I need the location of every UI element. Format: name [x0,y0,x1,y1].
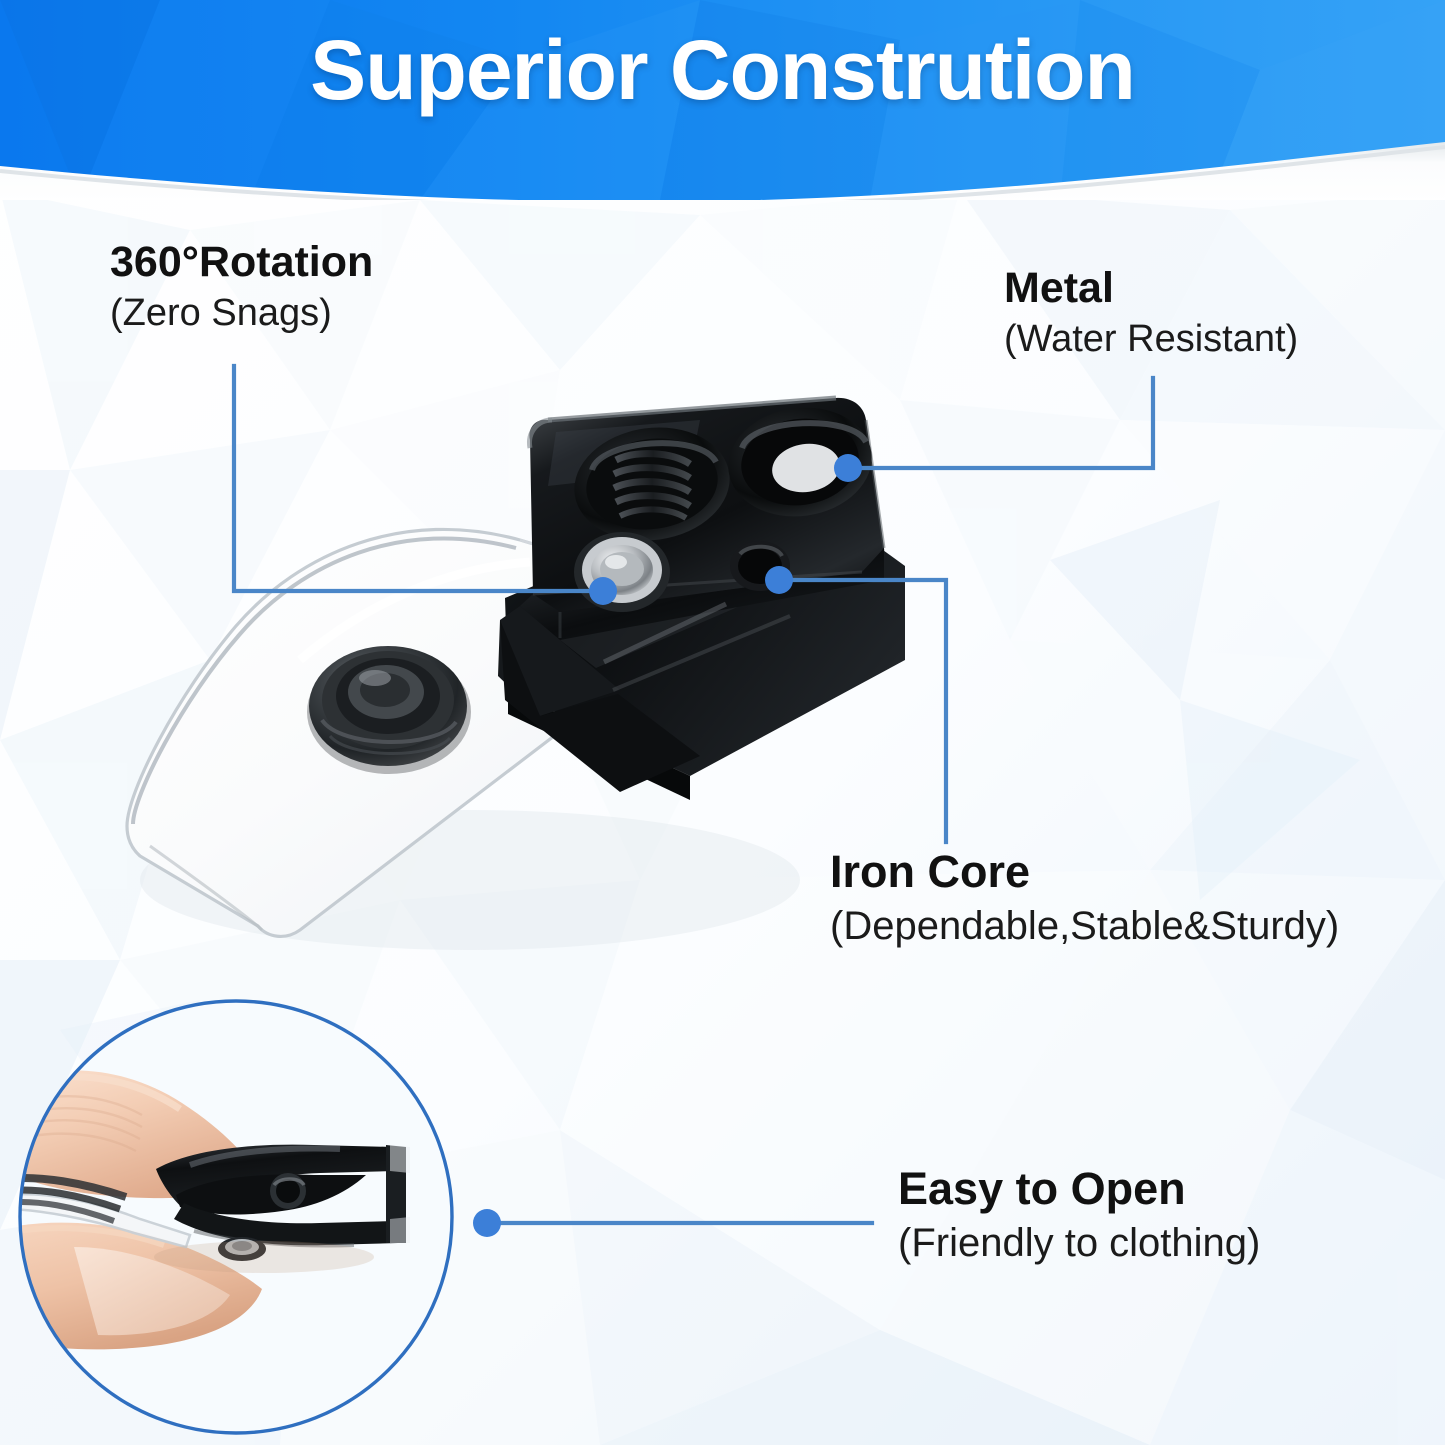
callout-iron-core: Iron Core (Dependable,Stable&Sturdy) [830,848,1339,947]
callout-rotation-title: 360°Rotation [110,240,373,285]
clip-pivot-rivet [574,532,670,612]
callout-metal-subtitle: (Water Resistant) [1004,320,1298,360]
callout-rotation: 360°Rotation (Zero Snags) [110,240,373,334]
callout-easy-open-title: Easy to Open [898,1165,1260,1212]
infographic-canvas: Superior Constrution [0,0,1445,1445]
clip-side-round-hole [730,541,790,591]
callout-iron-core-subtitle: (Dependable,Stable&Sturdy) [830,905,1339,947]
callout-metal: Metal (Water Resistant) [1004,266,1298,360]
callout-iron-core-title: Iron Core [830,848,1339,895]
easy-to-open-photo-inset [14,995,458,1439]
callout-metal-title: Metal [1004,266,1298,311]
callout-easy-open-subtitle: (Friendly to clothing) [898,1222,1260,1264]
photo-clip-hole [270,1173,306,1209]
callout-rotation-subtitle: (Zero Snags) [110,294,373,334]
callout-easy-open: Easy to Open (Friendly to clothing) [898,1165,1260,1264]
